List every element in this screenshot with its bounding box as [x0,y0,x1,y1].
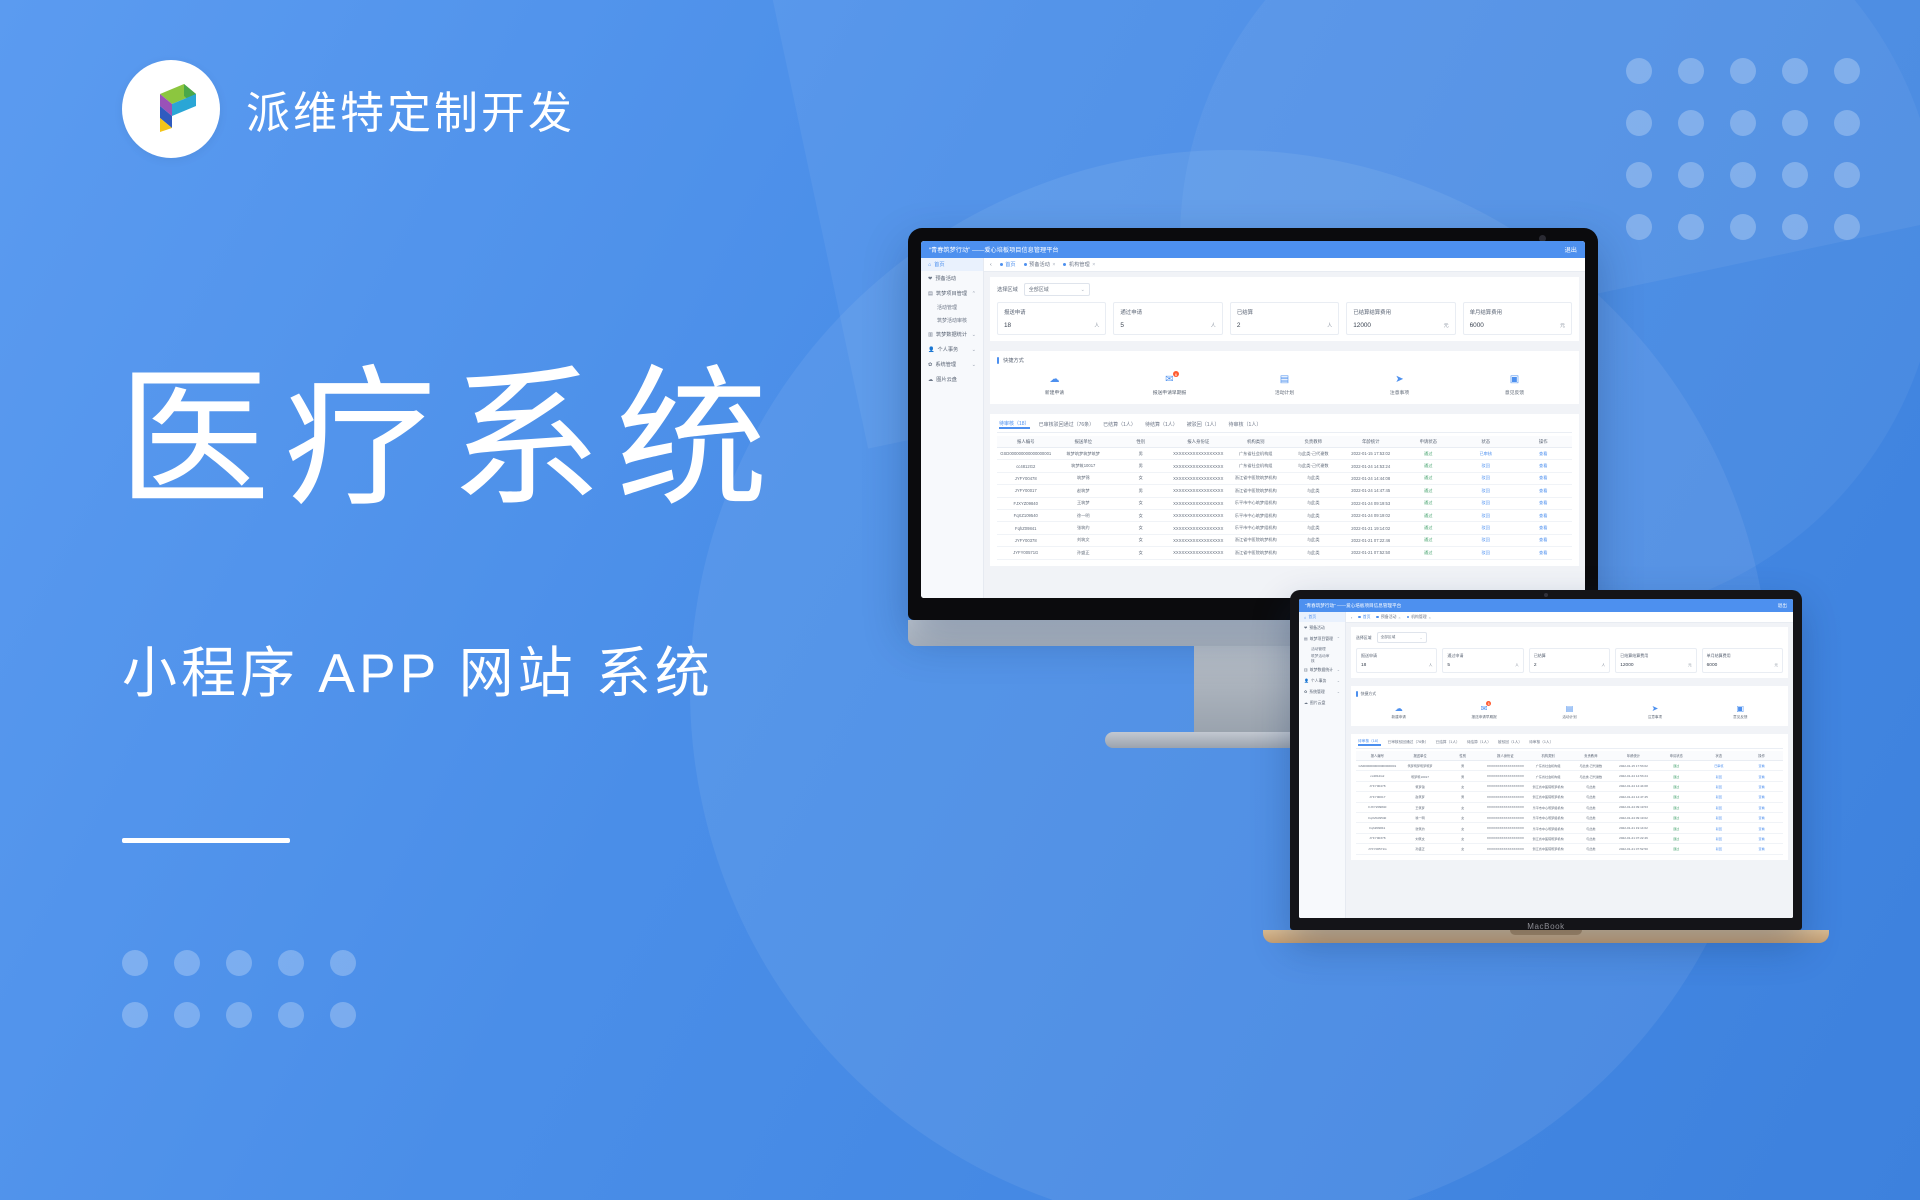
decor-dot [1730,162,1756,188]
stat-label: 通过申请 [1447,653,1518,659]
table-cell: 2022-01-24 09:19:53 [1612,802,1655,812]
table-cell: 浙江省中医院筑梦机构 [1227,485,1285,497]
table-cell: 2022-01-24 09:19:02 [1612,812,1655,822]
table-cell: 2022-01-21 19:14:02 [1342,522,1400,534]
stat-unit: 人 [1211,322,1216,329]
home-icon: ⌂ [928,262,931,268]
table-cell: 通过 [1400,522,1458,534]
quick-action-label: 报送申请早期报 [1153,389,1187,396]
stat-unit: 人 [1429,663,1433,668]
gear-icon: ✿ [928,362,932,368]
table-cell: 广东省社会机构组 [1527,761,1570,771]
stat-unit: 元 [1560,322,1565,329]
document-icon: ▤ [1565,703,1575,713]
quick-actions-title: 快捷方式 [997,357,1572,364]
quick-action-1[interactable]: ✉6报送申请早期报 [1441,703,1526,720]
stat-unit: 人 [1602,663,1606,668]
quick-action-label: 意见反馈 [1733,715,1747,720]
decor-dot [1626,162,1652,188]
table-cell: XXXXXXXXXXXXXXXXXX [1484,812,1527,822]
close-icon[interactable]: × [1092,262,1095,268]
decor-dot [1782,214,1808,240]
quick-actions-row: ☁新建申请✉6报送申请早期报▤活动计划➤注意事项▣意见反馈 [997,370,1572,398]
table-cell: 驳回 [1698,792,1741,802]
table-cell: 刘筑文 [1399,833,1442,843]
column-header-1: 报送单位 [1055,436,1113,448]
column-header-9: 操作 [1740,751,1783,761]
table-cell: 筑梦筑梦筑梦筑梦 [1055,448,1113,460]
quick-action-0[interactable]: ☁新建申请 [1356,703,1441,720]
table-cell[interactable]: 查看 [1740,771,1783,781]
stat-card-2: 已结算2人 [1230,302,1339,335]
table-cell: 女 [1112,534,1170,546]
tab-1[interactable]: 已审核驳回通过（76条） [1388,740,1429,745]
table-cell: 2022-01-24 14:44:08 [1612,781,1655,791]
breadcrumb-dot-icon [1376,616,1378,618]
app-body: ⌂首页❤预备活动▤筑梦项目管理⌃活动管理筑梦活动审核▥筑梦数据统计⌄👤个人事务⌄… [1299,612,1793,918]
breadcrumb-label: 预备活动 [1029,261,1050,268]
breadcrumb: ‹首页预备活动×机构管理× [1346,612,1793,623]
table-cell: 筑梦锦 [1399,781,1442,791]
breadcrumb-dot-icon [1358,616,1360,618]
breadcrumb-tab-0[interactable]: 首页 [1000,261,1016,268]
tab-4[interactable]: 被驳回（1人） [1187,421,1220,428]
table-cell: 驳回 [1698,844,1741,854]
table-cell: JYFY00478 [997,472,1055,484]
stat-card-0: 报送申请18人 [997,302,1106,335]
table-cell: 张筑约 [1055,522,1113,534]
table-cell: 浙江省中医院筑梦机构 [1227,534,1285,546]
table-row: FqXZ109540徐一明女XXXXXXXXXXXXXXXXXX乐平市中心筑梦组… [1356,812,1783,822]
table-cell[interactable]: 查看 [1740,761,1783,771]
table-cell: 通过 [1400,460,1458,472]
table-row: JYFY00017赵筑梦男XXXXXXXXXXXXXXXXXX浙江省中医院筑梦机… [1356,792,1783,802]
tab-1[interactable]: 已审核驳回通过（76条） [1039,421,1095,428]
table-cell: 2022-01-21 07:22:46 [1342,534,1400,546]
brand-name: 派维特定制开发 [246,77,575,141]
user-icon: 👤 [928,347,934,353]
table-cell: 驳回 [1698,833,1741,843]
table-cell: cc4812G2 [997,460,1055,472]
table-cell: 通过 [1655,792,1698,802]
gear-icon: ✿ [1304,689,1307,694]
stat-label: 已结算 [1534,653,1605,659]
decor-dot [1626,214,1652,240]
table-cell[interactable]: 查看 [1740,823,1783,833]
table-cell: XXXXXXXXXXXXXXXXXX [1170,472,1228,484]
table-cell: 2022-01-24 14:44:08 [1342,472,1400,484]
region-select[interactable]: 全部区域⌄ [1377,632,1427,643]
table-row: FJXYZ09840王筑梦女XXXXXXXXXXXXXXXXXX乐平市中心筑梦组… [1356,802,1783,812]
quick-action-label: 意见反馈 [1505,389,1524,396]
stat-label: 报送申请 [1361,653,1432,659]
breadcrumb-label: 首页 [1005,261,1015,268]
decor-dot [330,950,356,976]
send-icon: ➤ [1650,703,1660,713]
region-select[interactable]: 全部区域⌄ [1024,283,1090,296]
tab-5[interactable]: 待审核（1人） [1529,740,1553,745]
table-cell: 驳回 [1698,823,1741,833]
table-cell: 筑梦筑10017 [1399,771,1442,781]
table-cell: 2022-01-21 19:14:02 [1612,823,1655,833]
table-row: FqXZ109540徐一明女XXXXXXXXXXXXXXXXXX乐平市中心筑梦组… [997,509,1572,521]
decor-dot [1834,110,1860,136]
records-table: 报人编号报送单位性别报人身份证机构类别负责教师年龄统计申请状态状态操作GSD00… [997,436,1572,560]
quick-action-4[interactable]: ▣意见反馈 [1698,703,1783,720]
decor-dot [122,1002,148,1028]
table-cell: 已审核 [1457,448,1515,460]
table-cell: 广东省社会机构组 [1227,460,1285,472]
table-cell: 驳回 [1457,460,1515,472]
close-icon[interactable]: × [1398,615,1400,620]
sidebar-item-home[interactable]: ⌂首页 [1299,612,1345,622]
sidebar-item-label: 预备活动 [935,275,956,282]
breadcrumb-label: 首页 [1363,614,1371,620]
table-cell: 筑梦锦 [1055,472,1113,484]
quick-actions-panel: 快捷方式☁新建申请✉6报送申请早期报▤活动计划➤注意事项▣意见反馈 [990,351,1579,404]
table-cell: JYFY00017 [1356,792,1399,802]
breadcrumb-tab-2[interactable]: 机构管理× [1407,614,1431,620]
table-cell: 与此类 [1569,844,1612,854]
sidebar-subitem-2[interactable]: 活动管理 [921,301,983,314]
table-cell: 孙盛正 [1055,547,1113,559]
breadcrumb-tab-2[interactable]: 机构管理× [1063,261,1095,268]
tab-3[interactable]: 待结算（1人） [1467,740,1491,745]
stat-label: 通过申请 [1120,308,1215,316]
table-cell: 男 [1441,761,1484,771]
sidebar-item-4[interactable]: ▥筑梦数据统计⌄ [921,327,983,342]
brand-lockup: 派维特定制开发 [122,60,575,158]
stat-label: 报送申请 [1004,308,1099,316]
sidebar-subitem-3[interactable]: 筑梦活动审核 [921,314,983,327]
table-row: GSD000000000000000001筑梦筑梦筑梦筑梦男XXXXXXXXXX… [1356,761,1783,771]
filter-row: 选择区域全部区域⌄ [997,283,1572,296]
table-cell[interactable]: 查看 [1515,497,1573,509]
table-cell: 2022-01-15 17:53:02 [1342,448,1400,460]
table-cell: 与此类 [1285,522,1343,534]
table-cell: 与此类 [1569,812,1612,822]
decor-dot [226,950,252,976]
breadcrumb-back-icon[interactable]: ‹ [990,262,992,268]
table-cell: 与此类-己代谢数 [1569,771,1612,781]
sidebar-item-label: 筑梦项目管理 [936,290,967,297]
table-cell[interactable]: 查看 [1740,802,1783,812]
table-cell: XXXXXXXXXXXXXXXXXX [1170,547,1228,559]
breadcrumb: ‹首页预备活动×机构管理× [984,258,1585,272]
decor-dot [1834,214,1860,240]
stat-value-row: 12000元 [1353,322,1448,329]
sidebar-item-7[interactable]: ☁图片云盘 [921,372,983,387]
table-row: JYFY00478筑梦锦女XXXXXXXXXXXXXXXXXX浙江省中医院筑梦机… [997,472,1572,484]
table-row: JYFY00378刘筑文女XXXXXXXXXXXXXXXXXX浙江省中医院筑梦机… [1356,833,1783,843]
records-tabs: 待审核（18）已审核驳回通过（76条）已结算（1人）待结算（1人）被驳回（1人）… [1356,739,1783,749]
table-cell: XXXXXXXXXXXXXXXXXX [1170,460,1228,472]
chart-icon: ▥ [1304,667,1308,672]
table-cell: 通过 [1655,802,1698,812]
records-panel: 待审核（18）已审核驳回通过（76条）已结算（1人）待结算（1人）被驳回（1人）… [990,414,1579,566]
column-header-5: 负责教师 [1569,751,1612,761]
stats-row: 报送申请18人通过申请5人已结算2人已结算结算费用12000元单月结算费用600… [1356,648,1783,673]
stat-value: 6000 [1707,663,1718,668]
app-header-user[interactable]: 退出 [1565,245,1577,254]
table-cell: 通过 [1655,812,1698,822]
table-cell: XXXXXXXXXXXXXXXXXX [1484,844,1527,854]
table-cell: 通过 [1400,509,1458,521]
breadcrumb-back-icon[interactable]: ‹ [1351,615,1352,620]
table-row: JYFY00378刘筑文女XXXXXXXXXXXXXXXXXX浙江省中医院筑梦机… [997,534,1572,546]
chevron-down-icon: ⌄ [972,347,976,353]
table-cell: JYFY00478 [1356,781,1399,791]
table-cell: 2022-01-21 07:52:50 [1612,844,1655,854]
monitor-bezel: “青春筑梦行动” ——爱心培板项目信息管理平台退出⌂首页❤预备活动▤筑梦项目管理… [908,228,1598,620]
table-cell: 2022-01-24 14:53:24 [1342,460,1400,472]
table-cell: JYFY00378 [1356,833,1399,843]
main-content: ‹首页预备活动×机构管理×选择区域全部区域⌄报送申请18人通过申请5人已结算2人… [984,258,1585,598]
breadcrumb-tab-1[interactable]: 预备活动× [1376,614,1400,620]
laptop-screen: “青春筑梦行动” ——爱心培板项目信息管理平台退出⌂首页❤预备活动▤筑梦项目管理… [1299,599,1793,918]
stat-value: 12000 [1620,663,1633,668]
table-cell: 驳回 [1457,522,1515,534]
title-divider [122,838,290,843]
stat-card-4: 单月结算费用6000元 [1463,302,1572,335]
table-cell: JYFY00378 [997,534,1055,546]
table-cell: 驳回 [1457,472,1515,484]
sidebar-item-label: 图片云盘 [936,376,957,383]
table-cell: FqXZ109540 [997,509,1055,521]
pivot-p-logo-icon [140,76,202,143]
table-cell[interactable]: 查看 [1740,812,1783,822]
chevron-down-icon: ⌄ [1419,636,1422,640]
table-cell: FqhZ09841 [997,522,1055,534]
sidebar-item-5[interactable]: 👤个人事务⌄ [921,342,983,357]
table-cell: 驳回 [1698,812,1741,822]
table-cell[interactable]: 查看 [1515,547,1573,559]
sidebar-item-4[interactable]: ▥筑梦数据统计⌄ [1299,664,1345,675]
table-cell: XXXXXXXXXXXXXXXXXX [1484,802,1527,812]
table-cell[interactable]: 查看 [1515,509,1573,521]
quick-action-label: 报送申请早期报 [1472,715,1497,720]
table-cell[interactable]: 查看 [1740,792,1783,802]
laptop-device: “青春筑梦行动” ——爱心培板项目信息管理平台退出⌂首页❤预备活动▤筑梦项目管理… [1290,590,1802,943]
sidebar-item-label: 筑梦项目管理 [1310,636,1333,642]
table-cell[interactable]: 查看 [1515,485,1573,497]
stat-label: 单月结算费用 [1707,653,1778,659]
table-cell: 王筑梦 [1399,802,1442,812]
close-icon[interactable]: × [1429,615,1431,620]
decor-dot [330,1002,356,1028]
stat-unit: 元 [1444,322,1449,329]
app-body: ⌂首页❤预备活动▤筑梦项目管理⌃活动管理筑梦活动审核▥筑梦数据统计⌄👤个人事务⌄… [921,258,1585,598]
table-cell: XXXXXXXXXXXXXXXXXX [1170,485,1228,497]
column-header-8: 状态 [1457,436,1515,448]
sidebar-item-1[interactable]: ▤筑梦项目管理⌃ [921,286,983,301]
quick-action-2[interactable]: ▤活动计划 [1227,373,1342,396]
table-cell: 女 [1441,781,1484,791]
sidebar-subitem-3[interactable]: 筑梦活动审核 [1299,654,1345,664]
decor-dot-grid-top-right [1626,58,1860,240]
app-header-bar: “青春筑梦行动” ——爱心培板项目信息管理平台退出 [921,241,1585,258]
table-cell: 与此类 [1285,485,1343,497]
decor-dot [1782,58,1808,84]
decor-dot [1782,110,1808,136]
table-cell: 驳回 [1457,534,1515,546]
sidebar-item-0[interactable]: ❤预备活动 [921,271,983,286]
stat-card-3: 已结算结算费用12000元 [1346,302,1455,335]
table-cell[interactable]: 查看 [1515,522,1573,534]
column-header-9: 操作 [1515,436,1573,448]
stat-value-row: 2人 [1534,663,1605,668]
table-cell: JYFY00571G [997,547,1055,559]
cloud-upload-icon: ☁ [1048,373,1061,386]
tab-2[interactable]: 已结算（1人） [1103,421,1136,428]
table-cell: 通过 [1655,833,1698,843]
table-cell: JYFY00017 [997,485,1055,497]
breadcrumb-tab-1[interactable]: 预备活动× [1024,261,1056,268]
cloud-upload-icon: ☁ [1394,703,1404,713]
chevron-up-icon: ⌃ [972,291,976,297]
mail-icon: ✉6 [1479,703,1489,713]
stats-row: 报送申请18人通过申请5人已结算2人已结算结算费用12000元单月结算费用600… [997,302,1572,335]
sidebar-subitem-2[interactable]: 活动管理 [1299,644,1345,654]
table-cell: 驳回 [1457,497,1515,509]
decor-dot [1626,110,1652,136]
table-cell[interactable]: 查看 [1515,472,1573,484]
quick-action-2[interactable]: ▤活动计划 [1527,703,1612,720]
region-select-value: 全部区域 [1381,635,1396,640]
quick-action-3[interactable]: ➤注意事项 [1342,373,1457,396]
breadcrumb-tab-0[interactable]: 首页 [1358,614,1370,620]
decor-dot [1834,162,1860,188]
table-cell: 2022-01-21 07:22:46 [1612,833,1655,843]
column-header-0: 报人编号 [1356,751,1399,761]
table-cell[interactable]: 查看 [1515,448,1573,460]
stat-value: 12000 [1353,322,1371,329]
breadcrumb-dot-icon [1407,616,1409,618]
stat-value: 18 [1004,322,1011,329]
table-cell: 驳回 [1698,802,1741,812]
table-cell: 通过 [1400,534,1458,546]
sidebar-item-label: 系统管理 [935,361,956,368]
send-icon: ➤ [1393,373,1406,386]
document-icon: ▤ [1278,373,1291,386]
table-cell: 通过 [1655,761,1698,771]
stat-unit: 人 [1327,322,1332,329]
table-cell: 筑梦筑梦筑梦筑梦 [1399,761,1442,771]
column-header-7: 申请状态 [1655,751,1698,761]
sidebar-item-1[interactable]: ▤筑梦项目管理⌃ [1299,633,1345,644]
table-cell: 2022-01-24 09:19:02 [1342,509,1400,521]
table-cell: 徐一明 [1399,812,1442,822]
column-header-8: 状态 [1698,751,1741,761]
stat-value-row: 18人 [1361,663,1432,668]
table-cell: 赵筑梦 [1399,792,1442,802]
laptop-base [1263,930,1829,943]
quick-action-label: 新建申请 [1045,389,1064,396]
sidebar-item-label: 首页 [934,261,944,268]
table-cell: XXXXXXXXXXXXXXXXXX [1484,823,1527,833]
tab-3[interactable]: 待结算（1人） [1145,421,1178,428]
filter-row: 选择区域全部区域⌄ [1356,632,1783,643]
table-cell: 通过 [1400,448,1458,460]
table-cell: 通过 [1400,472,1458,484]
tab-0[interactable]: 待审核（18） [1358,739,1381,746]
tab-5[interactable]: 待审核（1人） [1229,421,1262,428]
sidebar-item-home[interactable]: ⌂首页 [921,258,983,271]
table-cell[interactable]: 查看 [1515,460,1573,472]
stat-label: 已结算 [1237,308,1332,316]
stat-value: 2 [1237,322,1241,329]
stat-value: 6000 [1470,322,1484,329]
records-panel: 待审核（18）已审核驳回通过（76条）已结算（1人）待结算（1人）被驳回（1人）… [1351,734,1788,860]
sidebar-item-6[interactable]: ✿系统管理⌄ [921,357,983,372]
column-header-6: 年龄统计 [1342,436,1400,448]
table-cell: XXXXXXXXXXXXXXXXXX [1170,509,1228,521]
table-cell: 2022-01-24 14:47:45 [1612,792,1655,802]
sidebar-item-0[interactable]: ❤预备活动 [1299,622,1345,633]
table-cell: 女 [1112,522,1170,534]
quick-action-3[interactable]: ➤注意事项 [1612,703,1697,720]
page-subtitle: 小程序 APP 网站 系统 [122,628,714,708]
sidebar-item-7[interactable]: ☁图片云盘 [1299,697,1345,708]
tab-2[interactable]: 已结算（1人） [1436,740,1460,745]
table-cell: 张筑约 [1399,823,1442,833]
table-cell: 通过 [1655,844,1698,854]
sidebar-item-6[interactable]: ✿系统管理⌄ [1299,686,1345,697]
table-cell: 浙江省中医院筑梦机构 [1527,844,1570,854]
quick-action-4[interactable]: ▣意见反馈 [1457,373,1572,396]
table-cell: 与此类 [1569,792,1612,802]
quick-action-1[interactable]: ✉6报送申请早期报 [1112,373,1227,396]
chart-icon: ▥ [928,332,933,338]
table-cell[interactable]: 查看 [1740,781,1783,791]
tab-4[interactable]: 被驳回（1人） [1498,740,1522,745]
table-cell: FJXYZ09840 [1356,802,1399,812]
decor-dot [1834,58,1860,84]
quick-action-label: 注意事项 [1390,389,1409,396]
table-cell[interactable]: 查看 [1740,833,1783,843]
decor-dot [1730,214,1756,240]
sidebar-item-5[interactable]: 👤个人事务⌄ [1299,675,1345,686]
table-cell: 与此类 [1569,802,1612,812]
table-cell: 通过 [1400,485,1458,497]
table-cell[interactable]: 查看 [1515,534,1573,546]
column-header-4: 机构类别 [1527,751,1570,761]
table-row: JYFY00017赵筑梦男XXXXXXXXXXXXXXXXXX浙江省中医院筑梦机… [997,485,1572,497]
column-header-3: 报人身份证 [1170,436,1228,448]
table-cell: 浙江省中医院筑梦机构 [1527,792,1570,802]
decor-dot-grid-bottom-left [122,950,356,1028]
close-icon[interactable]: × [1052,262,1055,268]
notification-badge: 6 [1173,371,1179,377]
brand-logo [122,60,220,158]
quick-action-0[interactable]: ☁新建申请 [997,373,1112,396]
table-cell: cc4812G2 [1356,771,1399,781]
stat-unit: 人 [1094,322,1099,329]
column-header-0: 报人编号 [997,436,1055,448]
page-title: 医疗系统 [118,364,782,516]
decor-dot [122,950,148,976]
table-cell: 驳回 [1698,771,1741,781]
sidebar-item-label: 个人事务 [937,346,958,353]
decor-dot [1730,58,1756,84]
table-cell: 徐一明 [1055,509,1113,521]
table-cell: 通过 [1400,497,1458,509]
table-cell[interactable]: 查看 [1740,844,1783,854]
sidebar: ⌂首页❤预备活动▤筑梦项目管理⌃活动管理筑梦活动审核▥筑梦数据统计⌄👤个人事务⌄… [921,258,984,598]
tab-0[interactable]: 待审核（18） [999,420,1030,429]
stat-value: 5 [1120,322,1124,329]
app-header-user[interactable]: 退出 [1778,603,1787,609]
